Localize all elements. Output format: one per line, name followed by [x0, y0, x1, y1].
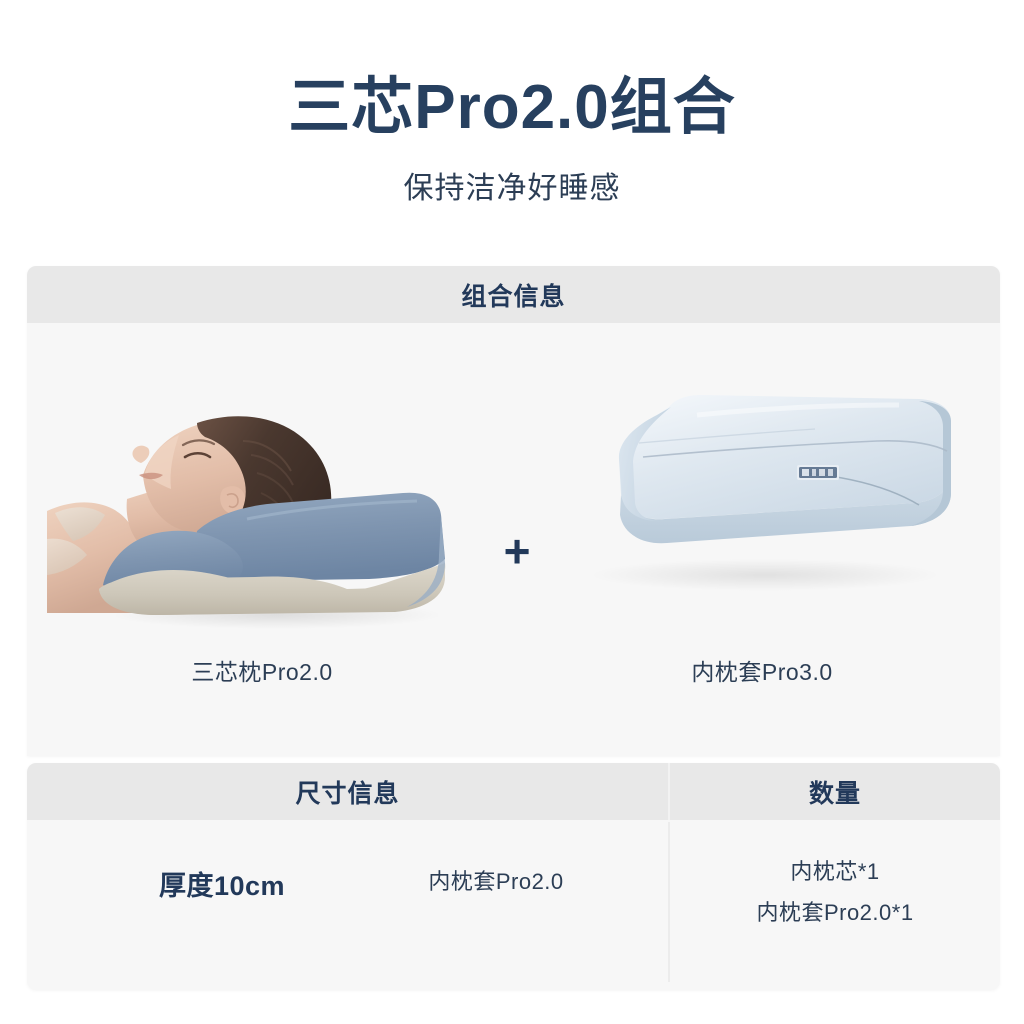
size-thickness-value: 厚度10cm — [119, 864, 325, 903]
combo-info-section: 组合信息 — [27, 266, 1000, 756]
spec-table-header-bar: 尺寸信息 数量 — [27, 763, 1000, 820]
spec-table-section: 尺寸信息 数量 厚度10cm 内枕套Pro2.0 内枕芯*1 内枕套Pro2.0… — [27, 763, 1000, 990]
cell-quantity-info: 内枕芯*1 内枕套Pro2.0*1 — [670, 820, 1000, 990]
quantity-line-core: 内枕芯*1 — [670, 852, 1000, 893]
info-card: 组合信息 — [27, 266, 1000, 990]
product-item-pillow[interactable]: 三芯枕Pro2.0 — [47, 323, 477, 756]
title-block: 三芯Pro2.0组合 保持洁净好睡感 — [0, 72, 1024, 207]
pillow-case-label — [797, 465, 839, 480]
page-title: 三芯Pro2.0组合 — [0, 72, 1024, 143]
product-label-pillow: 三芯枕Pro2.0 — [47, 653, 477, 687]
cell-size-info: 厚度10cm 内枕套Pro2.0 — [27, 820, 668, 990]
page-subtitle: 保持洁净好睡感 — [0, 163, 1024, 207]
combo-info-header-label: 组合信息 — [27, 277, 1000, 313]
column-header-size: 尺寸信息 — [27, 774, 668, 810]
inner-pillow-case-image — [547, 323, 977, 653]
product-item-pillowcase[interactable]: 内枕套Pro3.0 — [547, 323, 977, 756]
column-header-quantity: 数量 — [670, 774, 1000, 810]
spec-table-body: 厚度10cm 内枕套Pro2.0 内枕芯*1 内枕套Pro2.0*1 — [27, 820, 1000, 990]
product-label-pillowcase: 内枕套Pro3.0 — [547, 653, 977, 687]
product-detail-page: 三芯Pro2.0组合 保持洁净好睡感 组合信息 — [0, 0, 1024, 1024]
plus-icon: + — [489, 528, 545, 574]
product-list: 三芯枕Pro2.0 + — [27, 323, 1000, 756]
ergonomic-pillow-image — [47, 323, 477, 653]
quantity-line-cover: 内枕套Pro2.0*1 — [670, 893, 1000, 934]
size-cover-value: 内枕套Pro2.0 — [379, 864, 613, 896]
combo-info-header-bar: 组合信息 — [27, 266, 1000, 323]
